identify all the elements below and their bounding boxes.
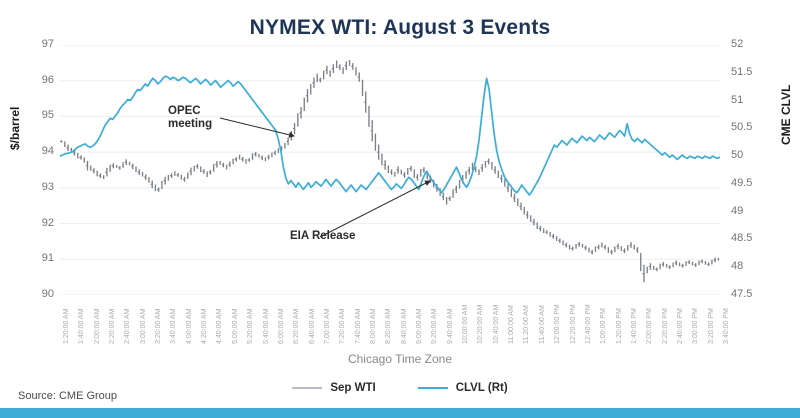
- x-tick-label: 2:00:00 PM: [646, 308, 653, 344]
- x-tick-label: 2:20:00 AM: [109, 309, 116, 344]
- x-tick-label: 2:00:00 AM: [94, 309, 101, 344]
- legend-swatch-sep-wti: [292, 387, 322, 389]
- x-tick-label: 3:00:00 AM: [140, 309, 147, 344]
- x-tick-label: 8:00:00 AM: [370, 309, 377, 344]
- x-tick-label: 3:40:00 AM: [170, 309, 177, 344]
- x-tick-label: 11:00:00 AM: [508, 305, 515, 344]
- x-tick-label: 10:40:00 AM: [493, 305, 500, 344]
- y-tick-left: 94: [24, 145, 54, 157]
- eia-arrow: [320, 181, 430, 237]
- y-tick-right: 50.5: [731, 121, 771, 133]
- x-tick-label: 12:20:00 PM: [570, 304, 577, 344]
- x-tick-label: 4:20:00 AM: [201, 309, 208, 344]
- legend-item-clvl[interactable]: CLVL (Rt): [418, 382, 508, 394]
- x-tick-label: 3:20:00 AM: [155, 309, 162, 344]
- x-axis-ticks: 1:20:00 AM1:40:00 AM2:00:00 AM2:20:00 AM…: [60, 298, 720, 348]
- x-tick-label: 2:40:00 PM: [677, 308, 684, 344]
- x-tick-label: 12:00:00 PM: [554, 304, 561, 344]
- x-tick-label: 2:20:00 PM: [662, 308, 669, 344]
- plot-svg: [60, 45, 720, 295]
- y-tick-right: 52: [731, 38, 771, 50]
- y-tick-right: 49.5: [731, 177, 771, 189]
- y-tick-left: 92: [24, 217, 54, 229]
- y-tick-right: 51: [731, 94, 771, 106]
- y-tick-right: 48.5: [731, 232, 771, 244]
- opec-arrow: [220, 118, 294, 136]
- legend-label-sep-wti: Sep WTI: [330, 382, 375, 394]
- x-tick-label: 1:40:00 PM: [631, 308, 638, 344]
- x-tick-label: 1:00:00 PM: [600, 308, 607, 344]
- y-axis-right-title: CME CLVL: [779, 85, 793, 145]
- x-tick-label: 5:00:00 AM: [232, 309, 239, 344]
- x-tick-label: 3:20:00 PM: [708, 308, 715, 344]
- plot-area: [60, 45, 720, 295]
- x-tick-label: 9:00:00 AM: [416, 309, 423, 344]
- x-tick-label: 2:40:00 AM: [124, 309, 131, 344]
- y-tick-left: 95: [24, 109, 54, 121]
- x-tick-label: 9:20:00 AM: [431, 309, 438, 344]
- y-tick-right: 50: [731, 149, 771, 161]
- legend-label-clvl: CLVL (Rt): [456, 382, 508, 394]
- annotation-opec-meeting: OPEC meeting: [168, 105, 212, 131]
- x-tick-label: 6:00:00 AM: [278, 309, 285, 344]
- y-tick-right: 47.5: [731, 288, 771, 300]
- y-tick-left: 97: [24, 38, 54, 50]
- x-tick-label: 1:20:00 PM: [616, 308, 623, 344]
- page-title: NYMEX WTI: August 3 Events: [0, 16, 800, 40]
- y-axis-left-title: $/barrel: [8, 107, 22, 150]
- x-tick-label: 7:20:00 AM: [339, 309, 346, 344]
- footer-accent-bar: [0, 408, 800, 418]
- x-tick-label: 10:20:00 AM: [477, 305, 484, 344]
- x-tick-label: 11:20:00 AM: [523, 305, 530, 344]
- y-tick-left: 93: [24, 181, 54, 193]
- x-tick-label: 5:40:00 AM: [263, 309, 270, 344]
- chart-page: NYMEX WTI: August 3 Events $/barrel CME …: [0, 0, 800, 418]
- x-tick-label: 7:40:00 AM: [355, 309, 362, 344]
- source-note: Source: CME Group: [18, 390, 117, 402]
- x-axis-title: Chicago Time Zone: [0, 352, 800, 366]
- x-tick-label: 7:00:00 AM: [324, 309, 331, 344]
- x-tick-label: 11:40:00 AM: [539, 305, 546, 344]
- annotation-arrows: [220, 118, 430, 237]
- x-tick-label: 9:40:00 AM: [447, 309, 454, 344]
- legend-swatch-clvl: [418, 387, 448, 389]
- x-tick-label: 3:00:00 PM: [692, 308, 699, 344]
- x-tick-label: 8:20:00 AM: [385, 309, 392, 344]
- x-tick-label: 10:00:00 AM: [462, 305, 469, 344]
- legend-item-sep-wti[interactable]: Sep WTI: [292, 382, 375, 394]
- y-tick-right: 49: [731, 205, 771, 217]
- x-tick-label: 4:00:00 AM: [186, 309, 193, 344]
- x-tick-label: 1:20:00 AM: [63, 309, 70, 344]
- series-sep-wti: [60, 60, 718, 282]
- annotation-eia-release: EIA Release: [290, 230, 355, 243]
- x-tick-label: 8:40:00 AM: [401, 309, 408, 344]
- x-tick-label: 6:20:00 AM: [293, 309, 300, 344]
- y-tick-right: 51.5: [731, 66, 771, 78]
- y-tick-left: 91: [24, 252, 54, 264]
- y-tick-left: 96: [24, 74, 54, 86]
- y-tick-right: 48: [731, 260, 771, 272]
- x-tick-label: 1:40:00 AM: [78, 309, 85, 344]
- chart-legend: Sep WTI CLVL (Rt): [0, 382, 800, 394]
- series-clvl: [60, 76, 720, 195]
- x-tick-label: 12:40:00 PM: [585, 304, 592, 344]
- x-tick-label: 3:40:00 PM: [723, 308, 730, 344]
- x-tick-label: 5:20:00 AM: [247, 309, 254, 344]
- y-tick-left: 90: [24, 288, 54, 300]
- x-tick-label: 4:40:00 AM: [216, 309, 223, 344]
- x-tick-label: 6:40:00 AM: [309, 309, 316, 344]
